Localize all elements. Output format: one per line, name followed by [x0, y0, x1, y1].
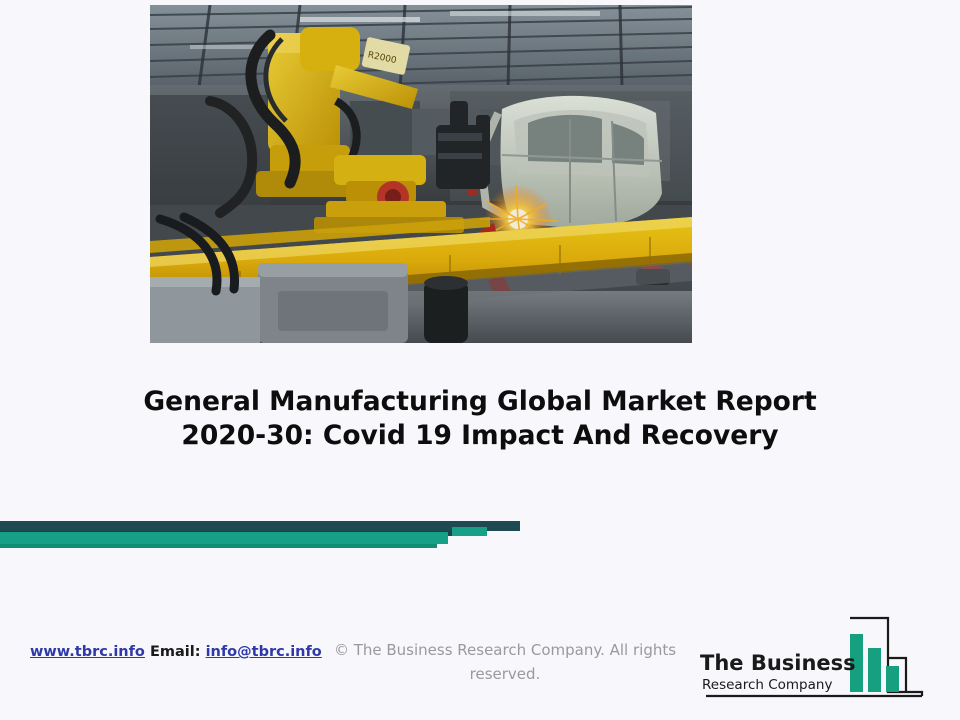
email-link[interactable]: info@tbrc.info — [206, 644, 322, 660]
page-title: General Manufacturing Global Market Repo… — [40, 385, 920, 453]
title-line-1: General Manufacturing Global Market Repo… — [40, 385, 920, 419]
logo-text-line1: The Business — [700, 651, 856, 675]
copyright-notice: © The Business Research Company. All rig… — [325, 638, 685, 686]
decorative-bar-teal — [0, 532, 448, 544]
logo-text-line2: Research Company — [702, 677, 832, 693]
title-line-2: 2020-30: Covid 19 Impact And Recovery — [40, 419, 920, 453]
footer-contact: www.tbrc.info Email: info@tbrc.info — [30, 644, 322, 660]
copyright-line-1: © The Business Research Company. All rig… — [325, 638, 685, 662]
email-label: Email: — [150, 644, 201, 660]
website-link[interactable]: www.tbrc.info — [30, 644, 145, 660]
copyright-line-2: reserved. — [325, 662, 685, 686]
logo-graphic: The Business Research Company — [700, 612, 935, 707]
decorative-bar-dark — [0, 521, 520, 531]
assembly-line-illustration: R2000 — [150, 5, 692, 343]
hero-image: R2000 — [150, 5, 692, 343]
decorative-bar-green-thin — [0, 544, 437, 548]
decorative-bar-teal-accent — [452, 527, 487, 536]
company-logo: The Business Research Company — [700, 612, 935, 707]
